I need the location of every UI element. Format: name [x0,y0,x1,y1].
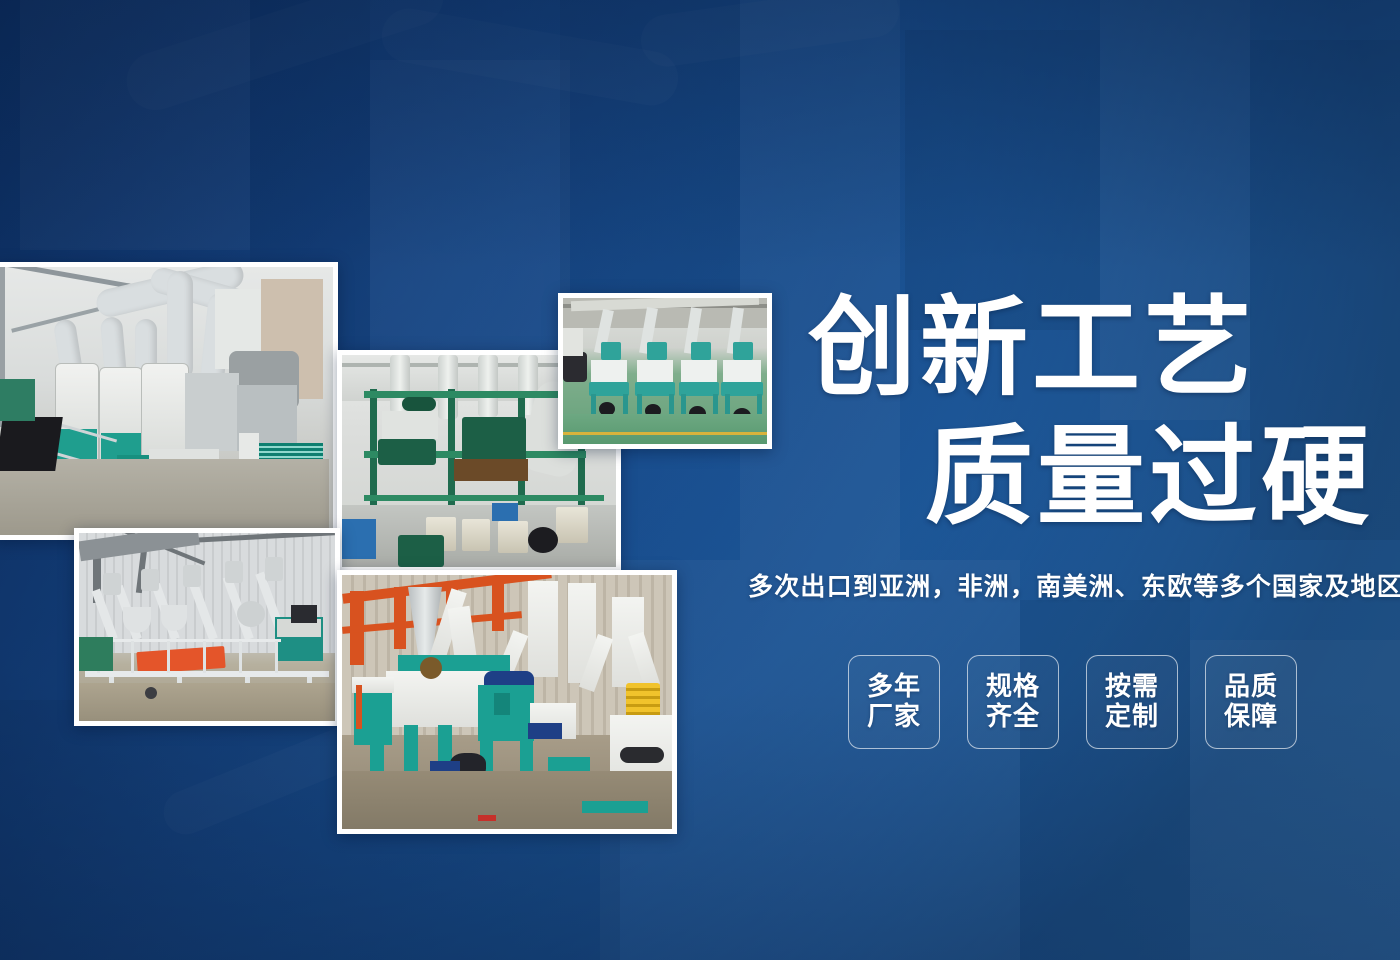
collage-photo-4 [74,528,340,726]
badge-line-bottom: 厂家 [867,702,921,732]
badge-line-top: 品质 [1224,672,1278,702]
headline-line-2: 质量过硬 [925,424,1373,532]
badge-line-top: 多年 [867,672,921,702]
feature-badge-quality-guarantee[interactable]: 品质 保障 [1205,655,1297,749]
feature-badge-custom-on-demand[interactable]: 按需 定制 [1086,655,1178,749]
badge-line-bottom: 齐全 [986,702,1040,732]
badge-line-bottom: 保障 [1224,702,1278,732]
feature-badge-years-manufacturer[interactable]: 多年 厂家 [848,655,940,749]
subtitle-text: 多次出口到亚洲，非洲，南美洲、东欧等多个国家及地区 [748,567,1400,603]
headline-line-1: 创新工艺 [808,295,1256,403]
badge-line-bottom: 定制 [1105,702,1159,732]
collage-photo-3 [558,293,772,449]
promotional-banner: 创新工艺 质量过硬 多次出口到亚洲，非洲，南美洲、东欧等多个国家及地区 多年 厂… [0,0,1400,960]
feature-badge-row: 多年 厂家 规格 齐全 按需 定制 品质 保障 [848,655,1297,749]
badge-line-top: 规格 [986,672,1040,702]
badge-line-top: 按需 [1105,672,1159,702]
feature-badge-full-specifications[interactable]: 规格 齐全 [967,655,1059,749]
collage-photo-1 [0,262,338,540]
collage-photo-5 [337,570,677,834]
